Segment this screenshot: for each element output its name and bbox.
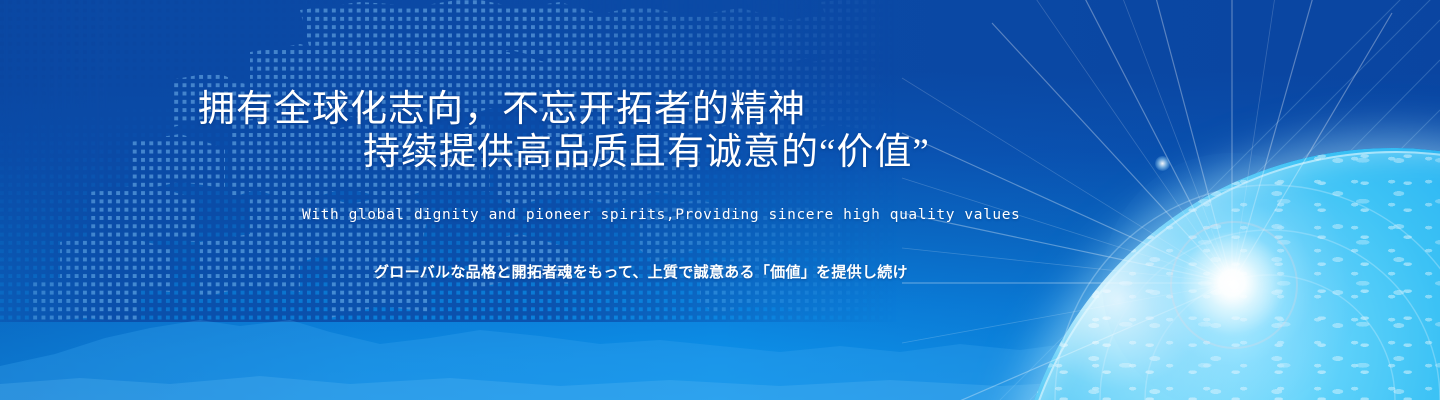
star-orb bbox=[1155, 156, 1170, 171]
planet-body bbox=[1012, 148, 1440, 400]
planet-surface-texture bbox=[1012, 148, 1440, 400]
headline-line-1: 拥有全球化志向，不忘开拓者的精神 bbox=[198, 91, 806, 128]
banner-copy: 拥有全球化志向，不忘开拓者的精神 持续提供高品质且有诚意的“价值” With g… bbox=[0, 0, 1440, 400]
hero-banner: 拥有全球化志向，不忘开拓者的精神 持续提供高品质且有诚意的“价值” With g… bbox=[0, 0, 1440, 400]
dotted-world-map bbox=[0, 0, 900, 322]
background-tint bbox=[0, 0, 1440, 400]
mountain-silhouette bbox=[0, 280, 1440, 400]
subtitle-japanese: グローバルな品格と開拓者魂をもって、上質で誠意ある「価値」を提供し続け bbox=[374, 261, 908, 282]
map-dot-texture bbox=[0, 0, 900, 322]
orbit-arcs bbox=[970, 70, 1440, 400]
subtitle-english: With global dignity and pioneer spirits,… bbox=[302, 207, 1020, 223]
headline-line-2: 持续提供高品质且有诚意的“价值” bbox=[363, 134, 930, 171]
planet-globe bbox=[970, 70, 1440, 400]
planet-atmosphere-rim bbox=[1012, 148, 1440, 400]
light-streaks bbox=[880, 0, 1440, 400]
